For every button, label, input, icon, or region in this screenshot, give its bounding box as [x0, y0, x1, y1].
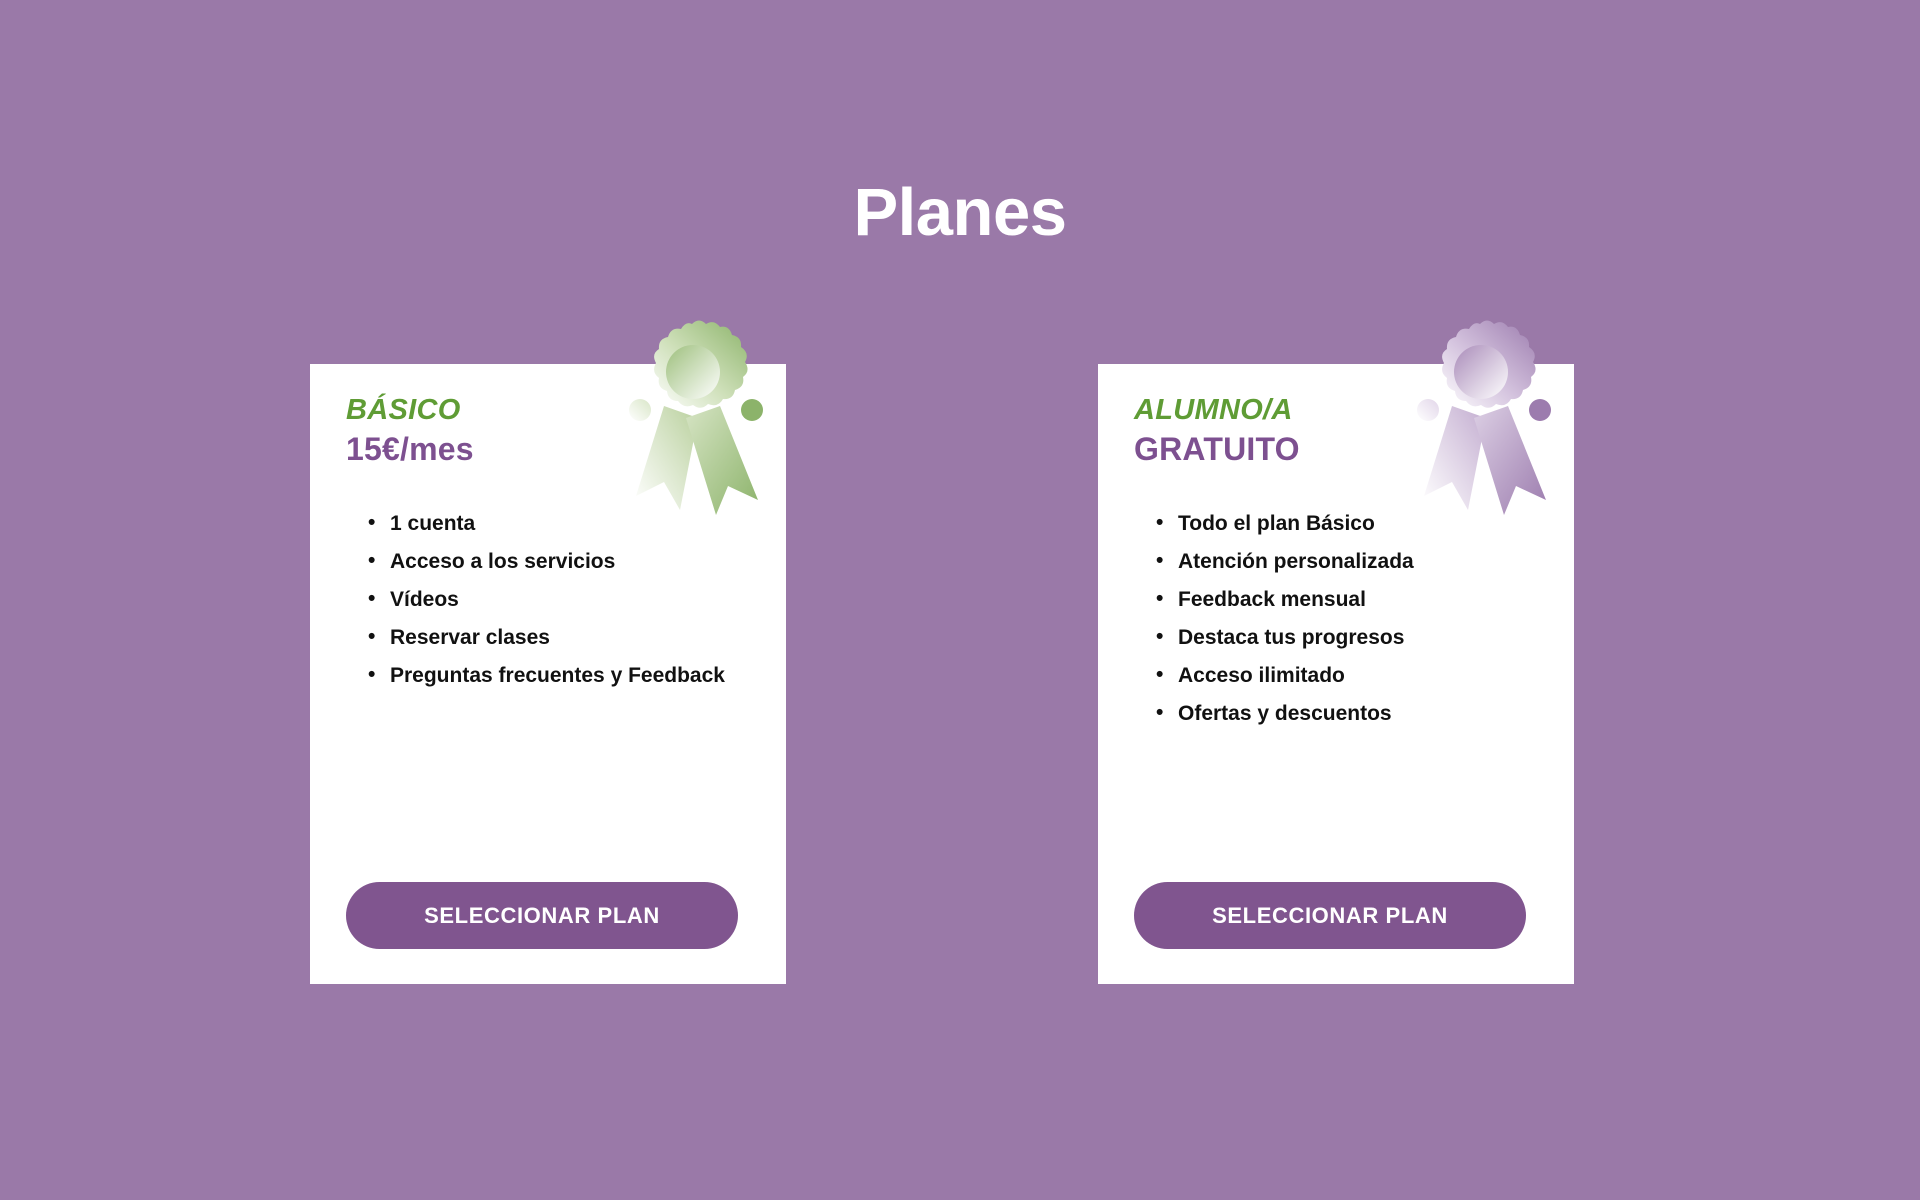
select-plan-button[interactable]: SELECCIONAR PLAN: [1134, 882, 1526, 949]
feature-item: Ofertas y descuentos: [1156, 703, 1538, 724]
select-plan-button[interactable]: SELECCIONAR PLAN: [346, 882, 738, 949]
feature-list: 1 cuenta Acceso a los servicios Vídeos R…: [346, 513, 750, 686]
plan-name: ALUMNO/A: [1134, 394, 1538, 426]
feature-item: Reservar clases: [368, 627, 750, 648]
feature-item: Todo el plan Básico: [1156, 513, 1538, 534]
page-title: Planes: [0, 178, 1920, 248]
feature-item: Acceso ilimitado: [1156, 665, 1538, 686]
plan-price: 15€/mes: [346, 430, 750, 468]
pricing-page: Planes: [0, 0, 1920, 1200]
feature-item: Vídeos: [368, 589, 750, 610]
plan-name: BÁSICO: [346, 394, 750, 426]
plan-card-alumno: ALUMNO/A GRATUITO Todo el plan Básico At…: [1098, 364, 1574, 984]
feature-item: Acceso a los servicios: [368, 551, 750, 572]
feature-item: 1 cuenta: [368, 513, 750, 534]
feature-item: Preguntas frecuentes y Feedback: [368, 665, 750, 686]
plan-card-basico: BÁSICO 15€/mes 1 cuenta Acceso a los ser…: [310, 364, 786, 984]
feature-item: Atención personalizada: [1156, 551, 1538, 572]
feature-item: Feedback mensual: [1156, 589, 1538, 610]
plan-price: GRATUITO: [1134, 430, 1538, 468]
feature-item: Destaca tus progresos: [1156, 627, 1538, 648]
feature-list: Todo el plan Básico Atención personaliza…: [1134, 513, 1538, 724]
